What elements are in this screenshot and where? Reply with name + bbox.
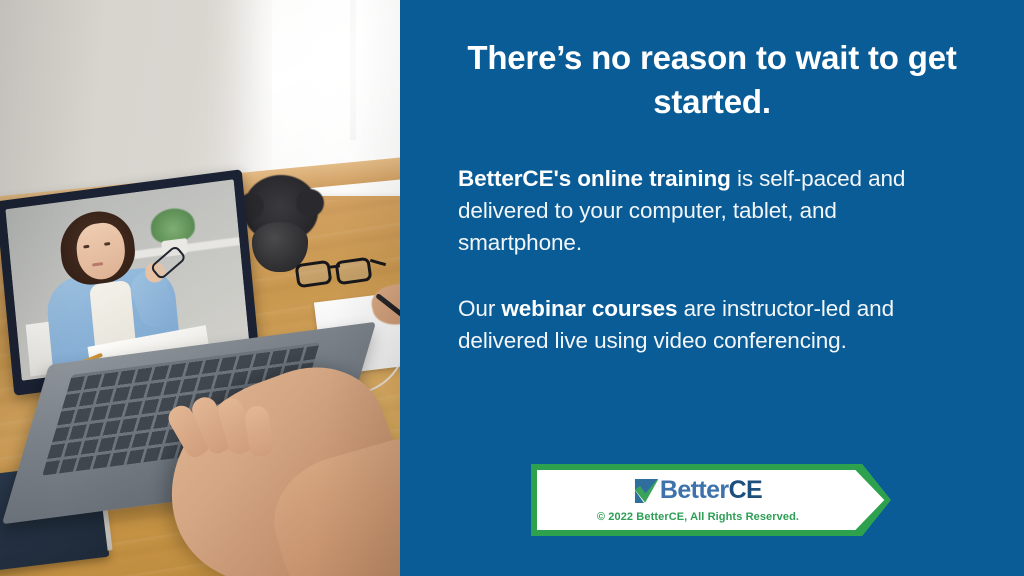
paragraph-1-bold: BetterCE's online training	[458, 166, 731, 191]
logo-wordmark: BetterCE	[660, 478, 762, 503]
logo-word-ce: CE	[729, 478, 763, 503]
paragraph-online-training: BetterCE's online training is self-paced…	[458, 163, 966, 259]
betterce-logo[interactable]: BetterCE	[634, 478, 762, 504]
paragraph-webinar-courses: Our webinar courses are instructor-led a…	[458, 293, 966, 357]
checkmark-shield-icon	[634, 478, 659, 504]
paragraph-2-prefix: Our	[458, 296, 501, 321]
body-copy: BetterCE's online training is self-paced…	[436, 123, 988, 357]
brand-badge[interactable]: BetterCE © 2022 BetterCE, All Rights Res…	[531, 464, 891, 536]
copyright-text: © 2022 BetterCE, All Rights Reserved.	[597, 511, 799, 523]
hero-photo	[0, 0, 400, 576]
badge-content: BetterCE © 2022 BetterCE, All Rights Res…	[537, 470, 885, 530]
promotional-slide: There’s no reason to wait to get started…	[0, 0, 1024, 576]
headline: There’s no reason to wait to get started…	[436, 0, 988, 123]
logo-word-better: Better	[660, 478, 729, 503]
content-panel: There’s no reason to wait to get started…	[400, 0, 1024, 576]
paragraph-2-bold: webinar courses	[501, 296, 677, 321]
